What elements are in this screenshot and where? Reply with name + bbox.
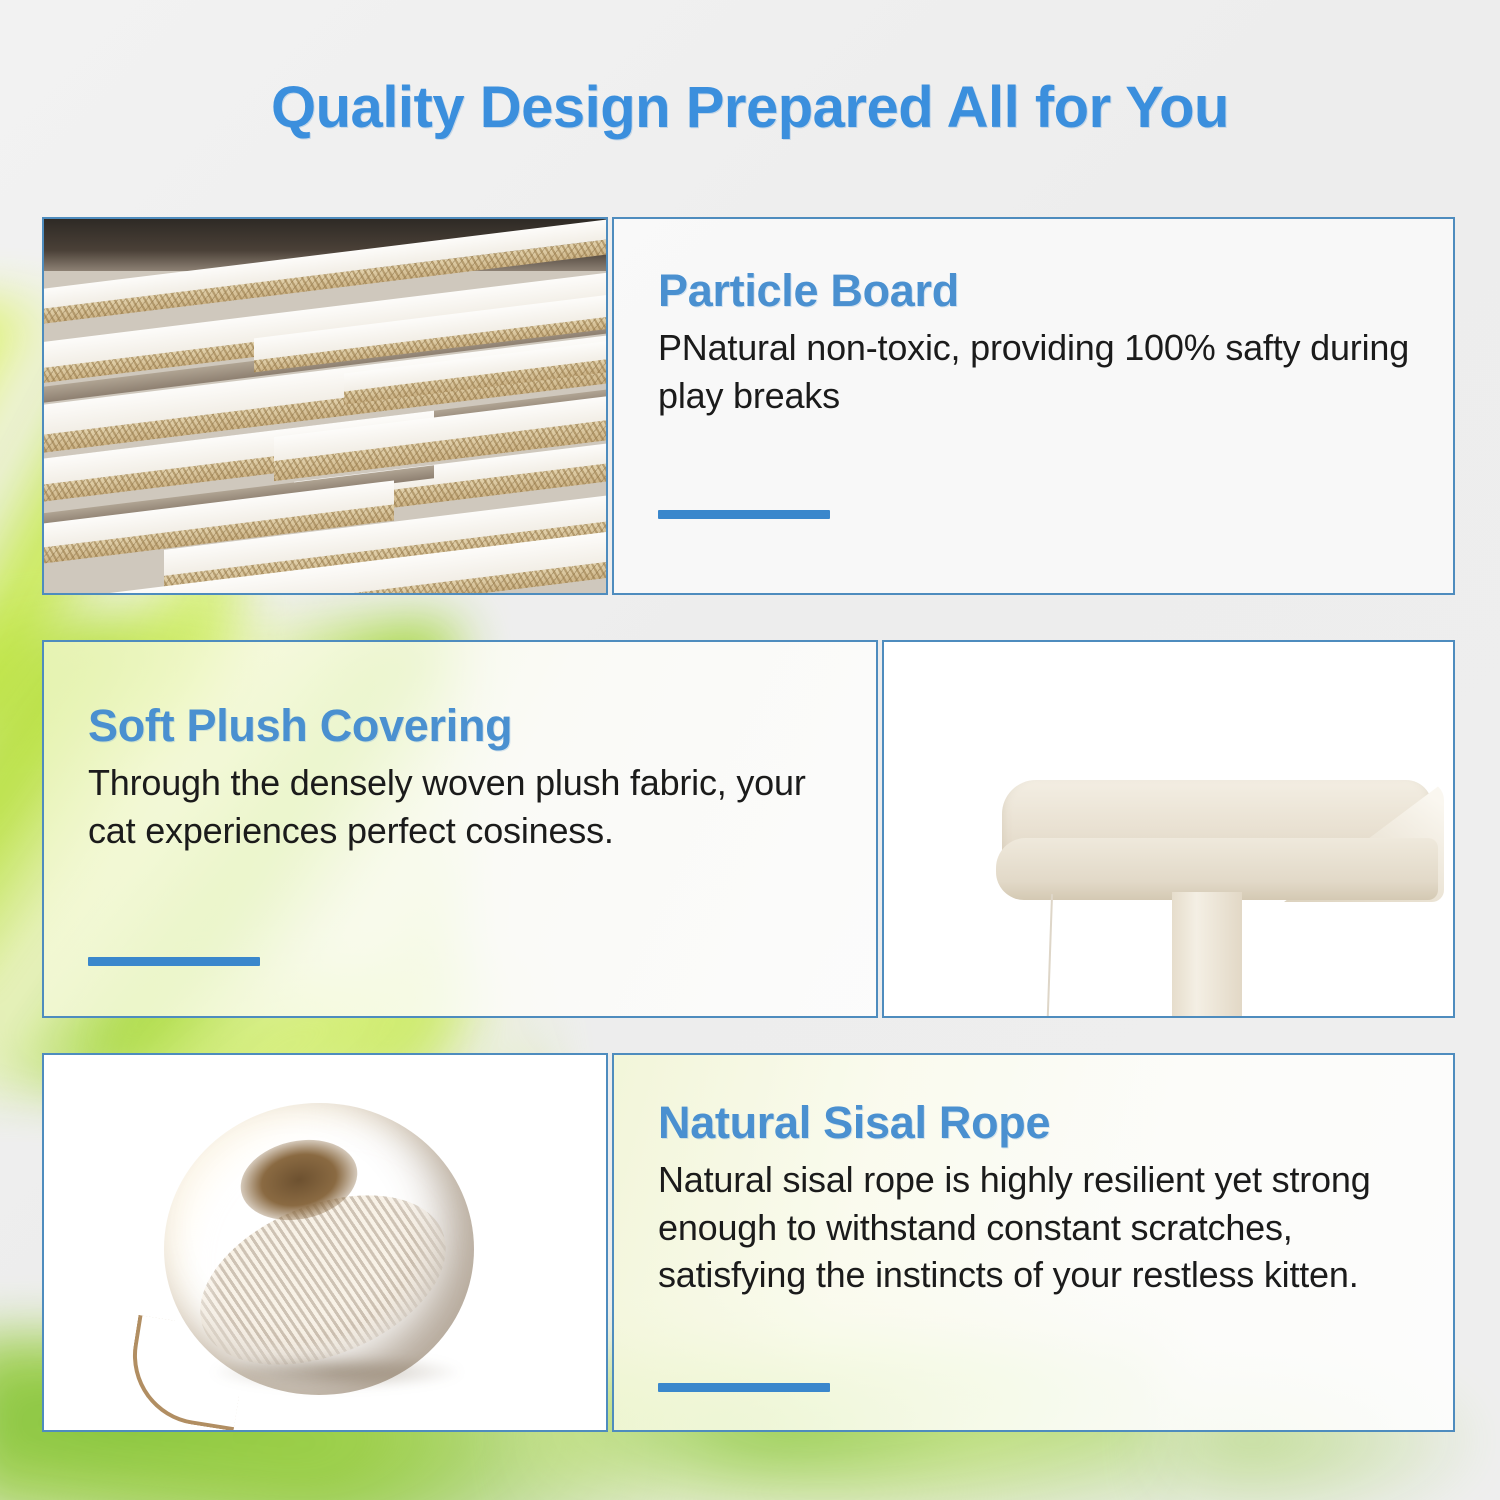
perch-support-post (1172, 892, 1242, 1018)
sisal-rope-text-panel: Natural Sisal Rope Natural sisal rope is… (612, 1053, 1455, 1432)
particle-board-text-panel: Particle Board PNatural non-toxic, provi… (612, 217, 1455, 595)
page-title: Quality Design Prepared All for You (0, 74, 1500, 141)
perch-front-edge (996, 838, 1438, 900)
plush-perch-image (882, 640, 1455, 1018)
perch-thin-line (1045, 894, 1053, 1018)
card-body-text: PNatural non-toxic, providing 100% safty… (658, 324, 1413, 419)
soft-plush-text-panel: Soft Plush Covering Through the densely … (42, 640, 878, 1018)
accent-bar (658, 1383, 830, 1392)
card-body-text: Through the densely woven plush fabric, … (88, 759, 836, 854)
particle-board-image (42, 217, 608, 595)
rope-loose-end (123, 1315, 249, 1431)
sisal-rope-illustration (44, 1055, 606, 1430)
accent-bar (88, 957, 260, 966)
card-heading: Particle Board (658, 267, 1413, 314)
particle-board-illustration (44, 219, 606, 593)
sisal-rope-image (42, 1053, 608, 1432)
feature-card-natural-sisal-rope: Natural Sisal Rope Natural sisal rope is… (42, 1053, 1455, 1432)
accent-bar (658, 510, 830, 519)
feature-card-soft-plush-covering: Soft Plush Covering Through the densely … (42, 640, 1455, 1018)
card-heading: Natural Sisal Rope (658, 1099, 1413, 1146)
infographic-page: Quality Design Prepared All for You (0, 0, 1500, 1500)
card-body-text: Natural sisal rope is highly resilient y… (658, 1156, 1413, 1299)
feature-card-particle-board: Particle Board PNatural non-toxic, provi… (42, 217, 1455, 595)
card-heading: Soft Plush Covering (88, 702, 836, 749)
plush-perch-illustration (884, 642, 1453, 1016)
